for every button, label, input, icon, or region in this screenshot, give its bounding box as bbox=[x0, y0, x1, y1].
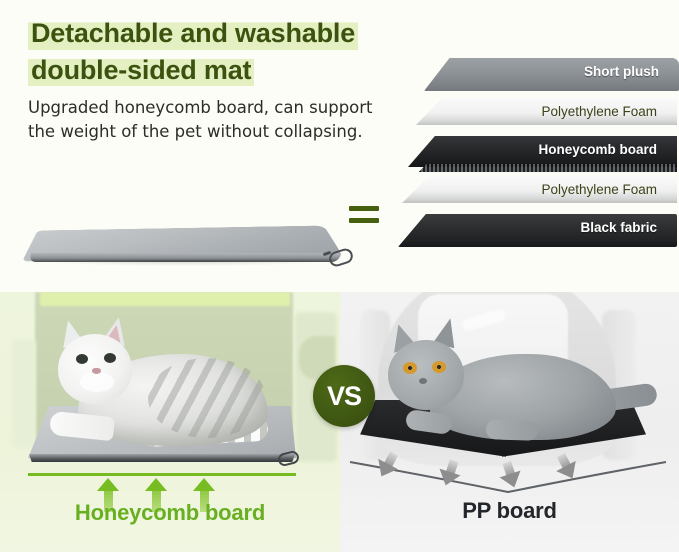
layer-polyethylene-foam-top: Polyethylene Foam bbox=[416, 98, 677, 132]
layer-black-fabric: Black fabric bbox=[398, 214, 677, 248]
subheading-text: Upgraded honeycomb board, can support th… bbox=[28, 96, 388, 144]
equals-bar-top bbox=[349, 206, 379, 211]
cat-nose bbox=[419, 378, 427, 384]
mat-product-image bbox=[8, 190, 358, 285]
cat-muzzle bbox=[80, 372, 114, 392]
equals-bar-bottom bbox=[349, 218, 379, 223]
layer-label: Polyethylene Foam bbox=[541, 102, 657, 122]
top-section: Detachable and washable double-sided mat… bbox=[0, 0, 679, 292]
heading-line2-wrap: double-sided mat bbox=[28, 53, 408, 88]
support-line bbox=[28, 473, 296, 476]
layer-label: Honeycomb board bbox=[538, 140, 657, 160]
arrow-head bbox=[97, 478, 119, 491]
cat-paw-back bbox=[486, 419, 539, 441]
heading-line-1: Detachable and washable bbox=[28, 16, 358, 51]
cat-eye-left bbox=[76, 354, 88, 364]
honeycomb-flute-texture bbox=[419, 164, 677, 172]
layer-label: Polyethylene Foam bbox=[541, 180, 657, 200]
arrow-head bbox=[193, 478, 215, 491]
cat-stripes bbox=[148, 358, 266, 438]
cat-eye-right bbox=[432, 361, 446, 373]
layer-polyethylene-foam-bottom: Polyethylene Foam bbox=[402, 176, 677, 210]
cat-eye-right bbox=[104, 353, 116, 363]
cat-head bbox=[388, 340, 464, 410]
layer-stack-diagram: Short plush Polyethylene Foam Honeycomb … bbox=[398, 58, 679, 272]
heading-block: Detachable and washable double-sided mat bbox=[28, 16, 408, 87]
label-honeycomb-board: Honeycomb board bbox=[0, 500, 340, 526]
mat-shadow bbox=[34, 260, 334, 266]
equals-icon bbox=[349, 206, 379, 228]
layer-honeycomb-board: Honeycomb board bbox=[408, 136, 677, 170]
infographic-page: Detachable and washable double-sided mat… bbox=[0, 0, 679, 552]
heading-line1-wrap: Detachable and washable bbox=[28, 16, 408, 51]
vs-badge: VS bbox=[313, 365, 375, 427]
arrow-head bbox=[145, 478, 167, 491]
layer-label: Black fabric bbox=[580, 218, 657, 238]
cat-eye-left bbox=[403, 362, 417, 374]
label-pp-board: PP board bbox=[340, 498, 679, 524]
honeycomb-mat-edge bbox=[29, 454, 295, 462]
layer-label: Short plush bbox=[584, 62, 659, 82]
left-top-strip bbox=[40, 292, 290, 306]
cat-nose bbox=[92, 368, 101, 374]
layer-short-plush: Short plush bbox=[424, 58, 679, 92]
heading-line-2: double-sided mat bbox=[28, 53, 254, 88]
vs-badge-label: VS bbox=[327, 383, 361, 410]
